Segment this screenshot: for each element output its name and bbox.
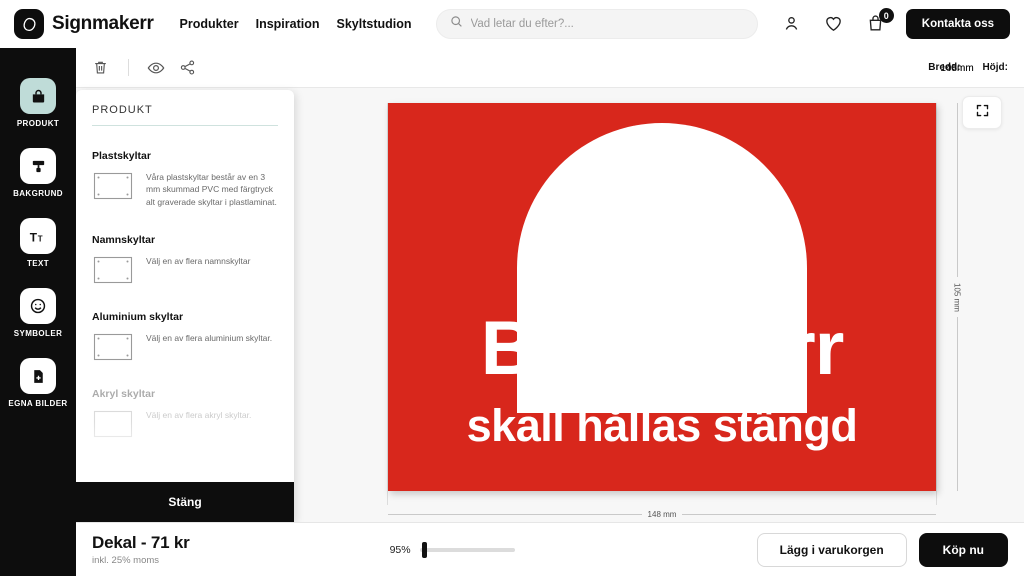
product-title: Aluminium skyltar	[92, 311, 280, 323]
product-description: Välj en av flera aluminium skyltar.	[146, 332, 272, 344]
list-item[interactable]: Namnskyltar Välj en av flera namnskyltar	[76, 234, 294, 285]
preview-eye-icon[interactable]	[147, 59, 165, 77]
sidebar-label-produkt: PRODUKT	[17, 119, 59, 128]
panel-close-button[interactable]: Stäng	[76, 482, 294, 522]
product-description: Välj en av flera namnskyltar	[146, 255, 250, 267]
main-nav-links: Produkter Inspiration Skyltstudion	[180, 17, 412, 31]
ruler-width-line-left	[388, 514, 642, 515]
svg-text:T: T	[37, 234, 42, 243]
sign-plate-thumbnail-icon	[92, 332, 134, 362]
product-row[interactable]: Välj en av flera namnskyltar	[92, 255, 280, 285]
editor-toolbar: Bredd: 148mm Höjd: 105mm	[76, 48, 1024, 88]
upload-file-icon	[20, 358, 56, 394]
product-title: Namnskyltar	[92, 234, 280, 246]
sign-text-line1[interactable]: Branddörr	[388, 311, 936, 387]
bottom-action-bar: Dekal - 71 kr inkl. 25% moms 95% Lägg i …	[76, 522, 1024, 576]
canvas-dimensions: Bredd: 148mm Höjd: 105mm	[928, 62, 1008, 73]
list-item[interactable]: Aluminium skyltar Välj en av flera alumi…	[76, 311, 294, 362]
add-to-cart-button[interactable]: Lägg i varukorgen	[757, 533, 907, 567]
ruler-guide-right	[936, 103, 937, 505]
product-title: Akryl skyltar	[92, 388, 280, 400]
buy-now-button[interactable]: Köp nu	[919, 533, 1008, 567]
cart-icon[interactable]: 0	[866, 14, 886, 34]
contact-button[interactable]: Kontakta oss	[906, 9, 1010, 39]
price-subtitle: inkl. 25% moms	[92, 555, 190, 566]
sidebar-label-text: TEXT	[27, 259, 49, 268]
cart-actions: Lägg i varukorgen Köp nu	[757, 533, 1008, 567]
product-panel-header: PRODUKT	[76, 90, 294, 126]
nav-inspiration[interactable]: Inspiration	[256, 17, 320, 31]
top-navigation-bar: Signmakerr Produkter Inspiration Skyltst…	[0, 0, 1024, 48]
product-description: Välj en av flera akryl skyltar.	[146, 409, 251, 421]
product-description: Våra plastskyltar består av en 3 mm skum…	[146, 171, 280, 208]
smiley-icon	[20, 288, 56, 324]
search-icon	[450, 15, 463, 33]
sign-plate-thumbnail-icon	[92, 171, 134, 201]
brand-logo[interactable]: Signmakerr	[14, 9, 154, 39]
price-title: Dekal - 71 kr	[92, 533, 190, 553]
fullscreen-button[interactable]	[962, 96, 1002, 129]
product-panel-title: PRODUKT	[92, 104, 278, 116]
svg-text:T: T	[29, 230, 37, 244]
product-row[interactable]: Välj en av flera aluminium skyltar.	[92, 332, 280, 362]
signmakerr-blob-logo-icon	[14, 9, 44, 39]
zoom-level-value: 95%	[390, 544, 411, 556]
product-panel: PRODUKT Plastskyltar Våra plastskyltar b…	[76, 90, 294, 522]
ruler-width-line-right	[682, 514, 936, 515]
account-icon[interactable]	[782, 14, 802, 34]
sidebar-item-produkt[interactable]: PRODUKT	[0, 78, 76, 128]
product-panel-divider	[92, 125, 278, 126]
text-size-icon: T T	[20, 218, 56, 254]
ruler-width-label: 148 mm	[648, 510, 677, 519]
sign-plate-thumbnail-icon	[92, 409, 134, 439]
header-icon-group: 0	[782, 14, 886, 34]
zoom-slider-handle[interactable]	[422, 542, 427, 558]
dimension-height: Höjd: 105mm	[982, 62, 1008, 73]
height-label: Höjd:	[982, 62, 1008, 73]
nav-produkter[interactable]: Produkter	[180, 17, 239, 31]
sign-artboard[interactable]: Branddörr skall hållas stängd	[388, 103, 936, 491]
list-item[interactable]: Akryl skyltar Välj en av flera akryl sky…	[76, 388, 294, 439]
search-box[interactable]	[436, 9, 758, 39]
editor-left-rail: PRODUKT BAKGRUND T T TEXT	[0, 48, 76, 576]
fullscreen-expand-icon	[975, 103, 990, 123]
zoom-control[interactable]: 95%	[390, 544, 515, 556]
wishlist-heart-icon[interactable]	[824, 14, 844, 34]
zoom-slider[interactable]	[420, 548, 515, 552]
cart-count-badge: 0	[879, 8, 894, 23]
sidebar-label-symboler: SYMBOLER	[14, 329, 63, 338]
product-row[interactable]: Välj en av flera akryl skyltar.	[92, 409, 280, 439]
sidebar-item-text[interactable]: T T TEXT	[0, 218, 76, 268]
signmakerr-editor-app: Signmakerr Produkter Inspiration Skyltst…	[0, 0, 1024, 576]
product-list[interactable]: Plastskyltar Våra plastskyltar består av…	[76, 136, 294, 482]
sidebar-item-bakgrund[interactable]: BAKGRUND	[0, 148, 76, 198]
delete-icon[interactable]	[92, 59, 110, 77]
sidebar-label-bakgrund: BAKGRUND	[13, 189, 63, 198]
sidebar-item-egna-bilder[interactable]: EGNA BILDER	[0, 358, 76, 408]
list-item[interactable]: Plastskyltar Våra plastskyltar består av…	[76, 150, 294, 208]
product-title: Plastskyltar	[92, 150, 280, 162]
product-bag-icon	[20, 78, 56, 114]
height-value: 105mm	[947, 63, 967, 451]
price-block: Dekal - 71 kr inkl. 25% moms	[92, 533, 190, 566]
paint-roller-icon	[20, 148, 56, 184]
search-input[interactable]	[471, 18, 744, 30]
share-icon[interactable]	[179, 59, 197, 77]
product-row[interactable]: Våra plastskyltar består av en 3 mm skum…	[92, 171, 280, 208]
sidebar-item-symboler[interactable]: SYMBOLER	[0, 288, 76, 338]
nav-skyltstudion[interactable]: Skyltstudion	[337, 17, 412, 31]
toolbar-icon-group	[92, 59, 197, 77]
ruler-width: 148 mm	[388, 505, 936, 523]
sign-text-line2[interactable]: skall hållas stängd	[388, 403, 936, 448]
brand-name: Signmakerr	[52, 13, 154, 35]
sign-plate-thumbnail-icon	[92, 255, 134, 285]
toolbar-divider	[128, 59, 129, 76]
sidebar-label-egna-bilder: EGNA BILDER	[8, 399, 67, 408]
sign-preview[interactable]: Branddörr skall hållas stängd	[388, 103, 936, 491]
